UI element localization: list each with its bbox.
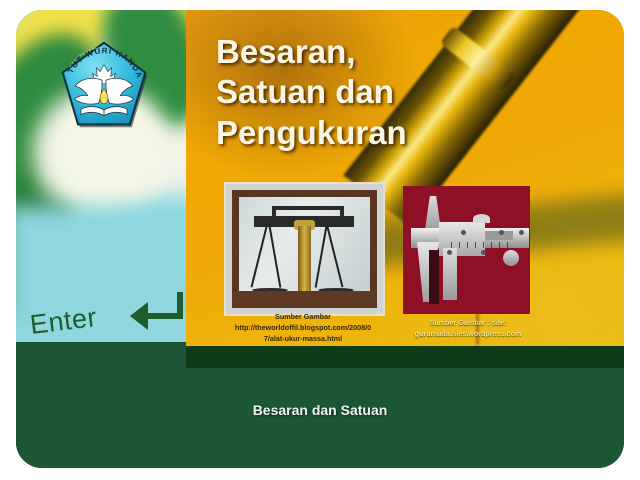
vernier-caliper-photo	[403, 186, 530, 314]
title-line-3: Pengukuran	[216, 113, 546, 153]
caliper-rivet	[461, 230, 466, 235]
title-line-1: Besaran,	[216, 32, 546, 72]
caption-line-2: http://theworldoffil.blogspot.com/2008/0	[212, 323, 394, 334]
measured-object-shape	[429, 250, 439, 304]
green-footer-area	[16, 368, 624, 468]
title-line-2: Satuan dan	[216, 72, 546, 112]
caliper-rivet	[519, 230, 524, 235]
caliper-tick	[499, 242, 500, 248]
scale-base-shape	[233, 291, 376, 307]
slide-title: Besaran, Satuan dan Pengukuran	[216, 32, 546, 153]
caliper-knob-shape	[503, 250, 519, 266]
scale-column-shape	[298, 226, 311, 298]
caliper-tick	[467, 242, 468, 248]
balance-scale-photo	[224, 182, 385, 316]
caliper-tick	[451, 242, 452, 248]
tut-wuri-handayani-logo-icon: TUT WURI HANDAYANI	[56, 38, 152, 134]
caliper-tick	[483, 242, 484, 248]
caliper-tick	[459, 242, 460, 248]
caption-line-1: Sumber Gambar	[212, 312, 394, 323]
caliper-rivet	[499, 230, 504, 235]
caliper-tick	[507, 242, 508, 248]
vernier-caliper-caption: Sumber Gambar : site: gurumuda.files.wor…	[398, 318, 538, 340]
enter-arrow-icon[interactable]	[128, 292, 184, 332]
caliper-thumb-screw-shape	[473, 214, 490, 223]
caliper-right-jaw-shape	[443, 248, 457, 300]
presentation-slide: TUT WURI HANDAYANI Enter	[16, 10, 624, 468]
caliper-tick	[475, 242, 476, 248]
caption-line-2: gurumuda.files.wordpress.com	[398, 329, 538, 340]
caliper-tick	[491, 242, 492, 248]
dark-green-strip	[186, 346, 624, 368]
caption-line-1: Sumber Gambar : site:	[398, 318, 538, 329]
caliper-rivet	[481, 250, 486, 255]
footer-title: Besaran dan Satuan	[16, 402, 624, 418]
caliper-rivet	[447, 250, 452, 255]
balance-scale-caption: Sumber Gambar http://theworldoffil.blogs…	[212, 312, 394, 344]
caption-line-3: 7/alat-ukur-massa.html	[212, 334, 394, 345]
left-photo-panel: TUT WURI HANDAYANI Enter	[16, 10, 186, 346]
